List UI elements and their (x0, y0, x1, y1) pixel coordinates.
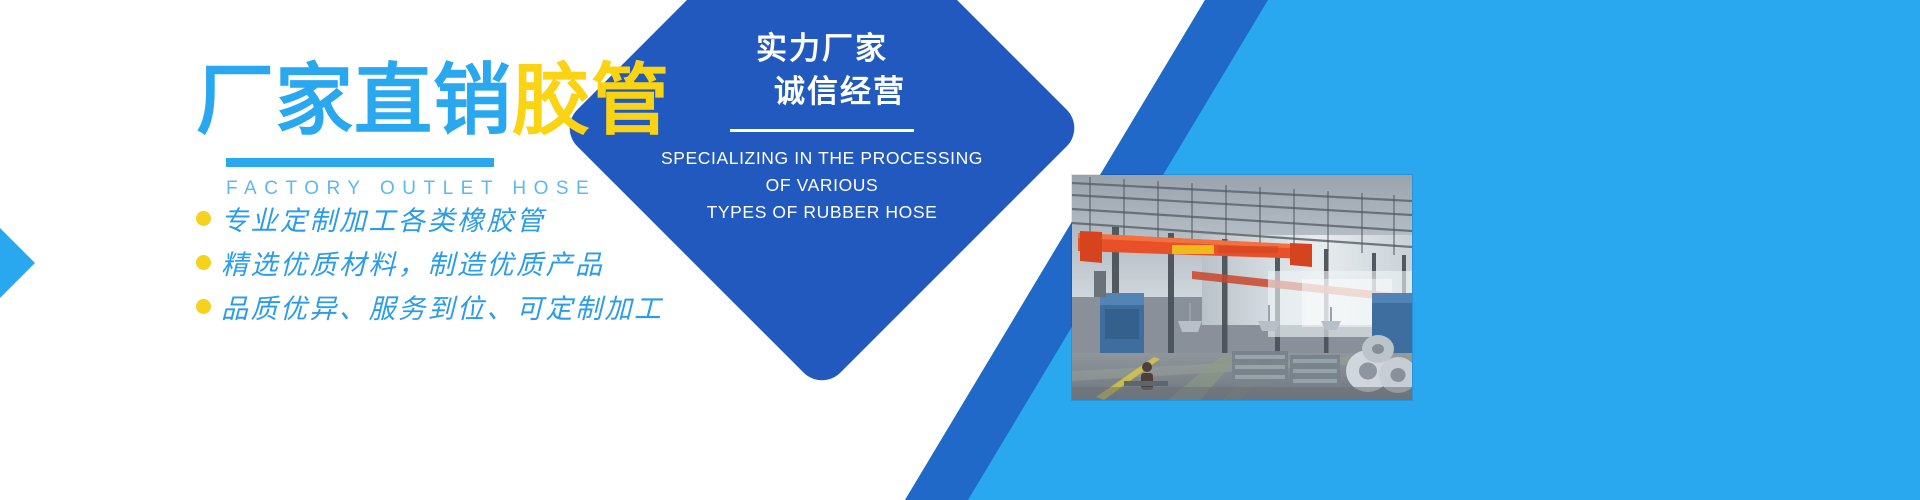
badge-cn-line-1: 实力厂家 (756, 31, 888, 67)
bullet-text: 品质优异、服务到位、可定制加工 (221, 287, 664, 326)
promo-banner: 厂家直销胶管 FACTORY OUTLET HOSE 专业定制加工各类橡胶管 精… (0, 0, 1920, 500)
diamond-badge-content: 实力厂家 诚信经营 SPECIALIZING IN THE PROCESSING… (636, 0, 1008, 314)
headline-blue-text: 厂家直销 (196, 56, 512, 146)
badge-divider (730, 129, 914, 132)
bullet-text: 精选优质材料，制造优质产品 (221, 243, 605, 282)
list-item: 精选优质材料，制造优质产品 (196, 242, 664, 283)
headline-underline-rule (226, 158, 494, 167)
bullet-dot-icon (196, 299, 211, 314)
badge-english-text: SPECIALIZING IN THE PROCESSING OF VARIOU… (661, 145, 983, 226)
list-item: 专业定制加工各类橡胶管 (196, 198, 664, 239)
page-title: 厂家直销胶管 (196, 62, 670, 142)
bullet-text: 专业定制加工各类橡胶管 (221, 199, 546, 238)
headline-block: 厂家直销胶管 FACTORY OUTLET HOSE (196, 62, 670, 200)
badge-cn-line-2: 诚信经营 (774, 71, 906, 114)
list-item: 品质优异、服务到位、可定制加工 (196, 286, 664, 327)
feature-bullet-list: 专业定制加工各类橡胶管 精选优质材料，制造优质产品 品质优异、服务到位、可定制加… (196, 198, 664, 330)
factory-photo (1072, 175, 1412, 400)
headline-subtitle-english: FACTORY OUTLET HOSE (226, 178, 670, 200)
bullet-dot-icon (196, 211, 211, 226)
badge-en-line-3: TYPES OF RUBBER HOSE (661, 199, 983, 226)
badge-en-line-2: OF VARIOUS (661, 172, 983, 199)
factory-photo-illustration (1072, 175, 1412, 400)
bullet-dot-icon (196, 255, 211, 270)
badge-chinese-headline: 实力厂家 诚信经营 (738, 28, 906, 114)
chevron-arrow-decoration (0, 168, 120, 358)
headline-yellow-text: 胶管 (512, 56, 670, 146)
badge-en-line-1: SPECIALIZING IN THE PROCESSING (661, 145, 983, 172)
